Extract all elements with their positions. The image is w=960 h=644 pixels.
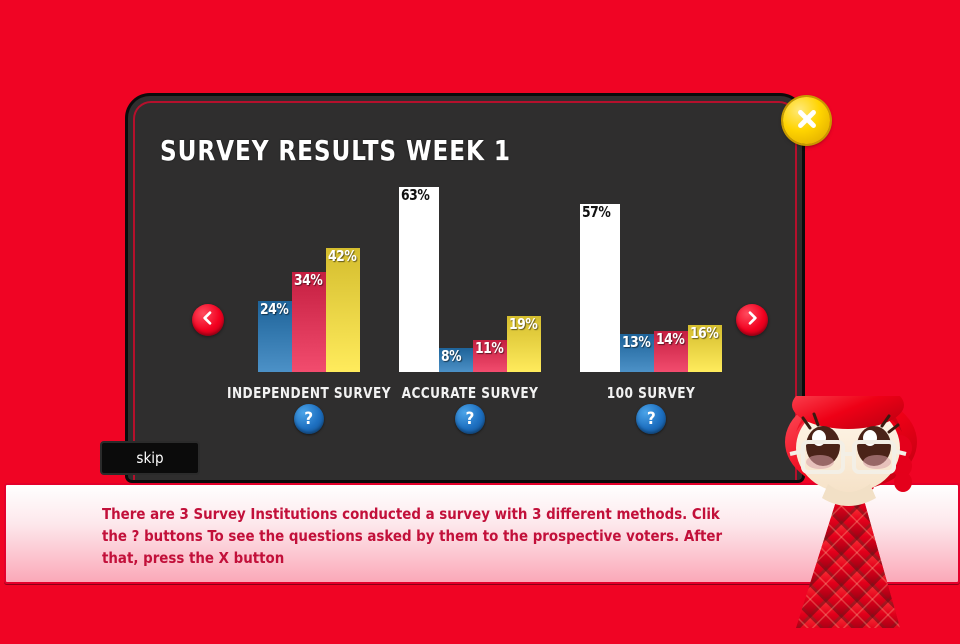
bar-value-label: 11% [475,339,503,357]
instruction-text: There are 3 Survey Institutions conducte… [102,503,768,569]
bar-white: 57% [580,204,620,372]
chevron-right-icon [744,310,760,330]
bar-yellow: 42% [326,248,360,372]
game-screen: SURVEY RESULTS WEEK 1 24%34%42%INDEPENDE… [0,0,960,640]
question-button-3[interactable]: ? [636,404,666,434]
bar-group: 24%34%42%INDEPENDENT SURVEY? [258,166,360,372]
bar-value-label: 42% [328,247,356,265]
bar-value-label: 8% [441,347,461,365]
bar-red: 11% [473,340,507,372]
bar-group: 63%8%11%19%ACCURATE SURVEY? [399,166,541,372]
bar-blue: 8% [439,348,473,372]
question-button-2[interactable]: ? [455,404,485,434]
bar-yellow: 16% [688,325,722,372]
bar-fill [580,204,620,372]
bar-value-label: 24% [260,300,288,318]
bar-group-label: ACCURATE SURVEY [394,384,546,402]
bar-value-label: 19% [509,315,537,333]
survey-bar-chart: 24%34%42%INDEPENDENT SURVEY?63%8%11%19%A… [158,156,782,450]
bar-fill [399,187,439,372]
bar-value-label: 57% [582,203,610,221]
bar-blue: 13% [620,334,654,372]
next-page-button[interactable] [736,304,768,336]
bar-red: 14% [654,331,688,372]
bar-fill [326,248,360,372]
bar-value-label: 34% [294,271,322,289]
guide-character [748,396,953,640]
bar-value-label: 14% [656,330,684,348]
bar-value-label: 16% [690,324,718,342]
bar-blue: 24% [258,301,292,372]
close-button[interactable] [783,97,830,144]
bar-yellow: 19% [507,316,541,372]
bar-group-label: 100 SURVEY [602,384,700,402]
question-button-1[interactable]: ? [294,404,324,434]
bar-group: 57%13%14%16%100 SURVEY? [580,166,722,372]
close-icon [794,106,820,136]
bar-white: 63% [399,187,439,372]
chart-plot-area: 24%34%42%INDEPENDENT SURVEY?63%8%11%19%A… [238,166,742,372]
bar-value-label: 13% [622,333,650,351]
survey-results-panel: SURVEY RESULTS WEEK 1 24%34%42%INDEPENDE… [128,96,802,480]
bar-group-label: INDEPENDENT SURVEY [218,384,400,402]
chevron-left-icon [200,310,216,330]
bar-value-label: 63% [401,186,429,204]
skip-button[interactable]: skip [100,441,200,475]
bar-groups: 24%34%42%INDEPENDENT SURVEY?63%8%11%19%A… [238,166,742,372]
prev-page-button[interactable] [192,304,224,336]
bar-red: 34% [292,272,326,372]
